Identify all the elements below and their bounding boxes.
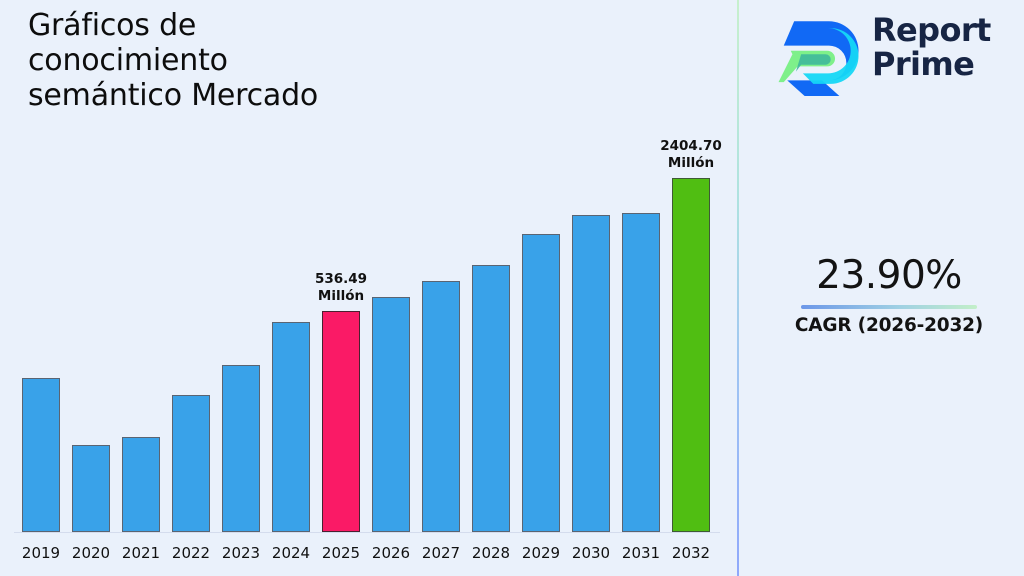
panel-divider xyxy=(737,0,739,576)
bar-2025[interactable] xyxy=(322,311,360,532)
bar-2031[interactable] xyxy=(622,213,660,532)
data-label-2032: 2404.70 Millón xyxy=(646,138,736,172)
bar-2024[interactable] xyxy=(272,322,310,532)
bar-2028[interactable] xyxy=(472,265,510,532)
bar-2020[interactable] xyxy=(72,445,110,532)
bar-slot xyxy=(616,62,666,532)
bar-2021[interactable] xyxy=(122,437,160,532)
cagr-divider xyxy=(801,305,977,309)
bar-2022[interactable] xyxy=(172,395,210,532)
bar-slot xyxy=(466,62,516,532)
chart-panel: Gráficos de conocimiento semántico Merca… xyxy=(0,0,738,576)
bar-2023[interactable] xyxy=(222,365,260,532)
bar-slot xyxy=(216,62,266,532)
x-axis-label-2030: 2030 xyxy=(566,544,616,562)
x-axis-label-2025: 2025 xyxy=(316,544,366,562)
cagr-value: 23.90% xyxy=(754,256,1024,297)
bar-slot xyxy=(516,62,566,532)
x-axis-label-2031: 2031 xyxy=(616,544,666,562)
bar-chart: 2019202020212022202320242025536.49 Milló… xyxy=(0,0,738,576)
axis-baseline xyxy=(14,532,720,533)
bar-slot xyxy=(116,62,166,532)
brand-name: Report Prime xyxy=(872,14,1024,81)
cagr-block: 23.90% CAGR (2026-2032) xyxy=(754,256,1024,336)
x-axis-label-2020: 2020 xyxy=(66,544,116,562)
bar-slot xyxy=(366,62,416,532)
x-axis-label-2022: 2022 xyxy=(166,544,216,562)
x-axis-label-2023: 2023 xyxy=(216,544,266,562)
bar-2026[interactable] xyxy=(372,297,410,532)
side-panel: Report Prime 23.90% CAGR (2026-2032) xyxy=(740,0,1024,576)
page-root: Gráficos de conocimiento semántico Merca… xyxy=(0,0,1024,576)
bar-2027[interactable] xyxy=(422,281,460,532)
x-axis-label-2027: 2027 xyxy=(416,544,466,562)
bar-slot xyxy=(416,62,466,532)
report-prime-logo-icon xyxy=(778,16,866,96)
x-axis-label-2032: 2032 xyxy=(666,544,716,562)
bar-slot xyxy=(666,62,716,532)
x-axis-label-2028: 2028 xyxy=(466,544,516,562)
x-axis-label-2019: 2019 xyxy=(16,544,66,562)
cagr-caption: CAGR (2026-2032) xyxy=(754,315,1024,336)
bar-slot xyxy=(66,62,116,532)
x-axis-label-2029: 2029 xyxy=(516,544,566,562)
bar-slot xyxy=(16,62,66,532)
bar-slot xyxy=(566,62,616,532)
brand-logo: Report Prime xyxy=(778,12,1024,98)
bar-2030[interactable] xyxy=(572,215,610,532)
x-axis-label-2021: 2021 xyxy=(116,544,166,562)
x-axis-label-2024: 2024 xyxy=(266,544,316,562)
bar-2019[interactable] xyxy=(22,378,60,532)
bar-2029[interactable] xyxy=(522,234,560,532)
x-axis-label-2026: 2026 xyxy=(366,544,416,562)
bar-slot xyxy=(166,62,216,532)
bar-2032[interactable] xyxy=(672,178,710,532)
